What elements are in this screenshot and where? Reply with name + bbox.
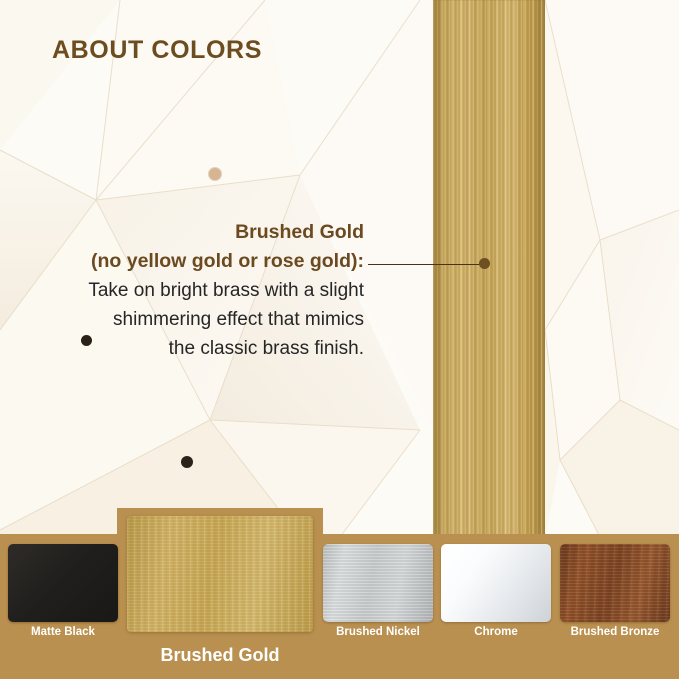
about-colors-infographic: ABOUT COLORS Brushed Gold (no yellow gol… — [0, 0, 679, 679]
swatch-matte-black[interactable] — [8, 544, 118, 622]
swatch-brushed-gold-featured[interactable] — [127, 516, 313, 632]
callout-body-line3: the classic brass finish. — [42, 334, 364, 363]
swatch-label-brushed-bronze: Brushed Bronze — [560, 626, 670, 638]
callout-heading-line1: Brushed Gold — [42, 218, 364, 247]
swatch-brushed-nickel[interactable] — [323, 544, 433, 622]
callout-leader-dot — [479, 258, 490, 269]
swatch-chrome[interactable] — [441, 544, 551, 622]
decorative-dot-dark-lower — [181, 456, 193, 468]
swatch-label-matte-black: Matte Black — [8, 626, 118, 638]
page-title: ABOUT COLORS — [52, 36, 262, 65]
swatch-label-brushed-nickel: Brushed Nickel — [323, 626, 433, 638]
decorative-dot-tan — [209, 168, 221, 180]
callout-body-line1: Take on bright brass with a slight — [42, 276, 364, 305]
swatch-label-chrome: Chrome — [441, 626, 551, 638]
swatch-label-brushed-gold-featured: Brushed Gold — [127, 645, 313, 666]
swatch-brushed-bronze[interactable] — [560, 544, 670, 622]
callout-leader-line — [368, 264, 486, 265]
brushed-gold-column-image — [433, 0, 545, 537]
callout-text-block: Brushed Gold (no yellow gold or rose gol… — [42, 218, 364, 363]
callout-body-line2: shimmering effect that mimics — [42, 305, 364, 334]
callout-heading-line2: (no yellow gold or rose gold): — [42, 247, 364, 276]
